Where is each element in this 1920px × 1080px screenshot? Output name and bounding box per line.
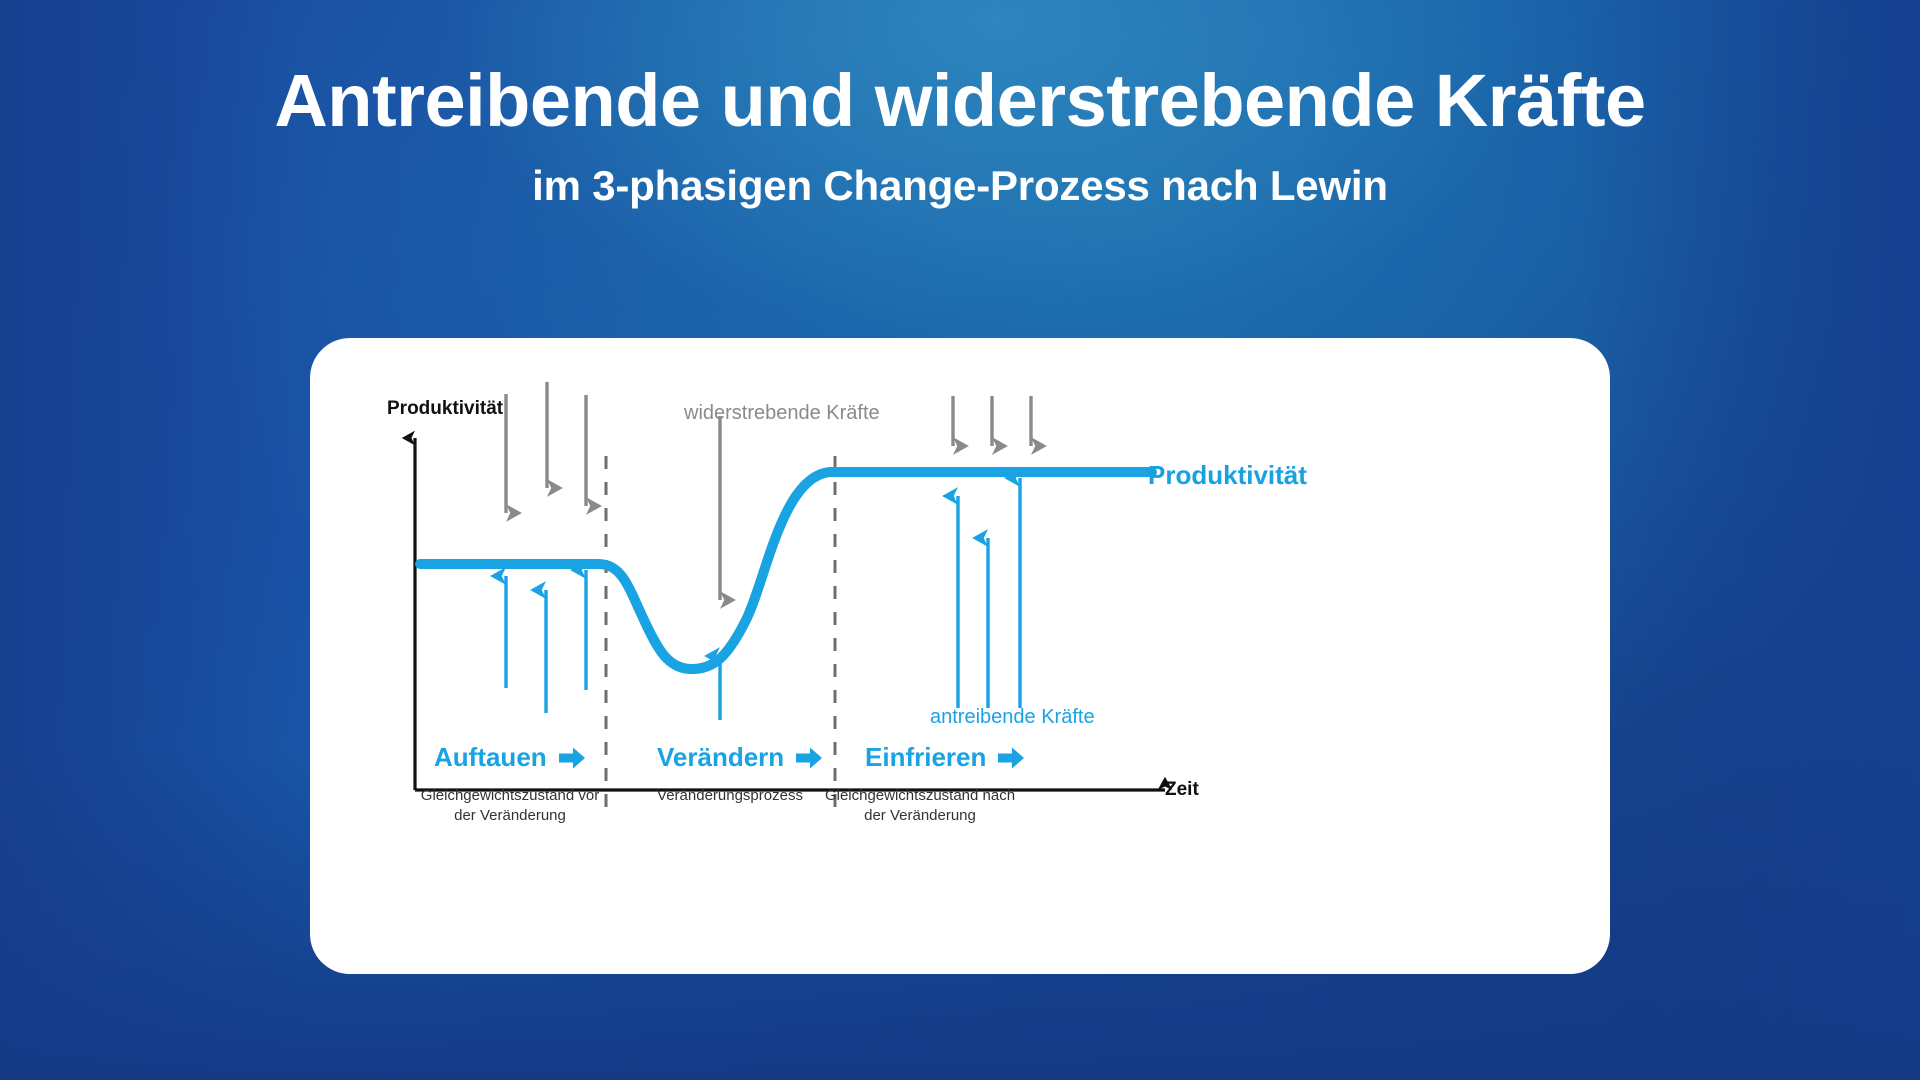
productivity-curve [420, 472, 1152, 669]
phase-caption-auftauen: Gleichgewichtszustand vor der Veränderun… [390, 786, 630, 827]
phase-arrow-icon [998, 747, 1024, 769]
caption-line: Gleichgewichtszustand nach [800, 786, 1040, 806]
x-axis-label: Zeit [1165, 779, 1199, 801]
phase-arrow-icon [796, 747, 822, 769]
phase-label-text: Verändern [657, 742, 784, 773]
resisting-forces-label: widerstrebende Kräfte [684, 402, 880, 425]
phase-label-einfrieren: Einfrieren [865, 742, 1024, 773]
phase-label-text: Auftauen [434, 742, 547, 773]
driving-force-arrow-group-left [506, 570, 586, 713]
chart-card: Produktivität widerstrebende Kräfte Prod… [310, 338, 1610, 974]
page-title: Antreibende und widerstrebende Kräfte [0, 62, 1920, 140]
caption-line: Gleichgewichtszustand vor [390, 786, 630, 806]
driving-forces-label: antreibende Kräfte [930, 706, 1095, 729]
caption-line: der Veränderung [390, 806, 630, 826]
productivity-line-label: Produktivität [1148, 460, 1307, 491]
resisting-force-arrow-group-left [506, 382, 586, 513]
phase-label-auftauen: Auftauen [434, 742, 585, 773]
caption-line: der Veränderung [800, 806, 1040, 826]
phase-label-veraendern: Verändern [657, 742, 822, 773]
phase-arrow-icon [559, 747, 585, 769]
phase-caption-einfrieren: Gleichgewichtszustand nach der Veränderu… [800, 786, 1040, 827]
phase-label-text: Einfrieren [865, 742, 986, 773]
resisting-force-arrow-group-right [953, 396, 1031, 446]
y-axis-label: Produktivität [387, 398, 503, 420]
page-subtitle: im 3-phasigen Change-Prozess nach Lewin [0, 162, 1920, 210]
header: Antreibende und widerstrebende Kräfte im… [0, 0, 1920, 210]
lewin-change-curve-chart [310, 338, 1610, 974]
driving-force-arrow-group-right [958, 478, 1020, 708]
